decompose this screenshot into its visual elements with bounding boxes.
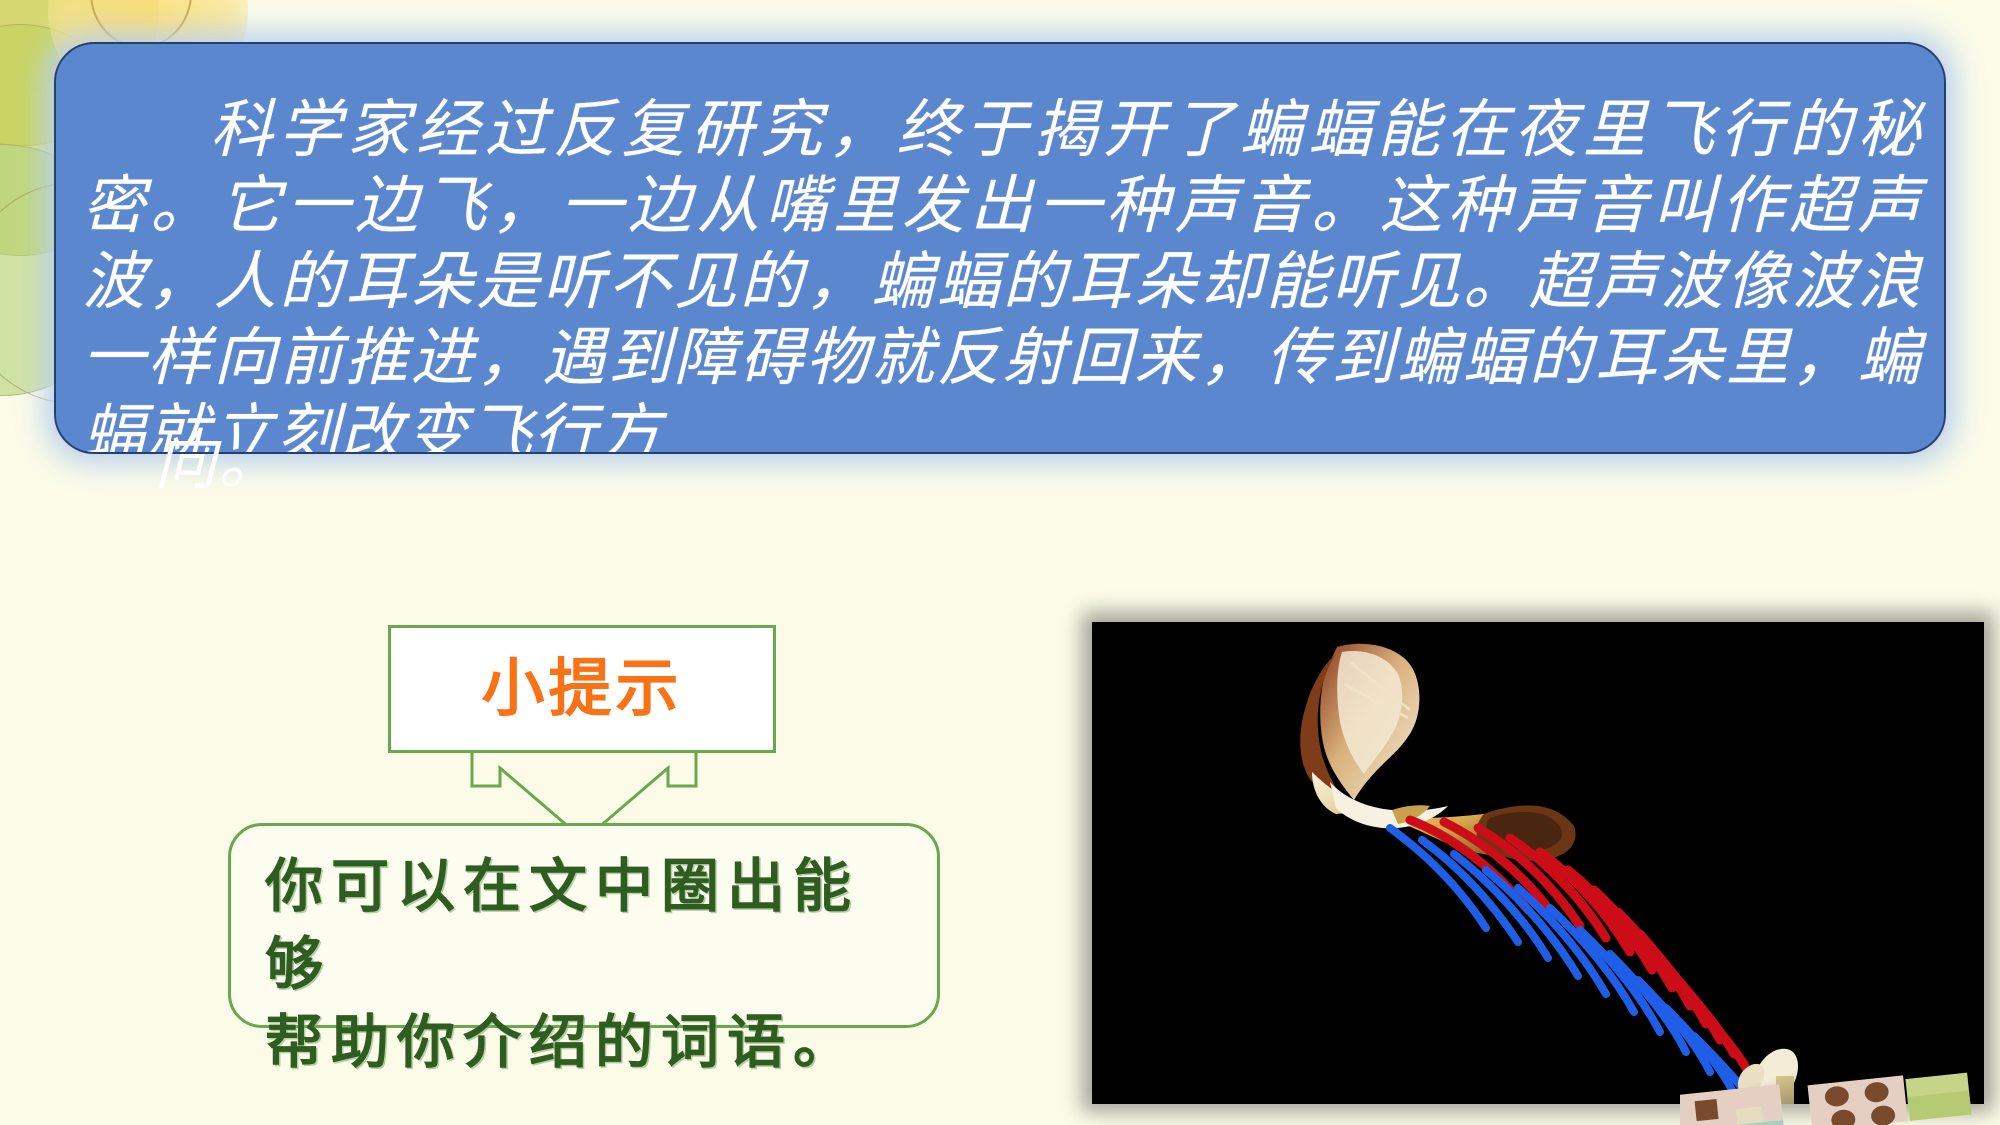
passage-box: 科学家经过反复研究，终于揭开了蝙蝠能在夜里飞行的秘密。它一边飞，一边从嘴里发出一… (54, 42, 1946, 454)
hint-tip-box: 你可以在文中圈出能够 帮助你介绍的词语。 (228, 823, 940, 1028)
bat-echolocation-photo (1092, 622, 1984, 1104)
hint-tip-line-2: 帮助你介绍的词语。 (265, 1004, 907, 1082)
passage-body-text: 科学家经过反复研究，终于揭开了蝙蝠能在夜里飞行的秘密。它一边飞，一边从嘴里发出一… (82, 92, 1922, 452)
passage-clip: 科学家经过反复研究，终于揭开了蝙蝠能在夜里飞行的秘密。它一边飞，一边从嘴里发出一… (56, 44, 1944, 452)
hint-tip-line-1: 你可以在文中圈出能够 (265, 848, 907, 1004)
passage-overflow-text: 向。 (26, 424, 626, 500)
slide-canvas: 科学家经过反复研究，终于揭开了蝙蝠能在夜里飞行的秘密。它一边飞，一边从嘴里发出一… (0, 0, 2000, 1125)
hint-header-label: 小提示 (482, 658, 683, 721)
hint-header-box: 小提示 (388, 625, 776, 753)
